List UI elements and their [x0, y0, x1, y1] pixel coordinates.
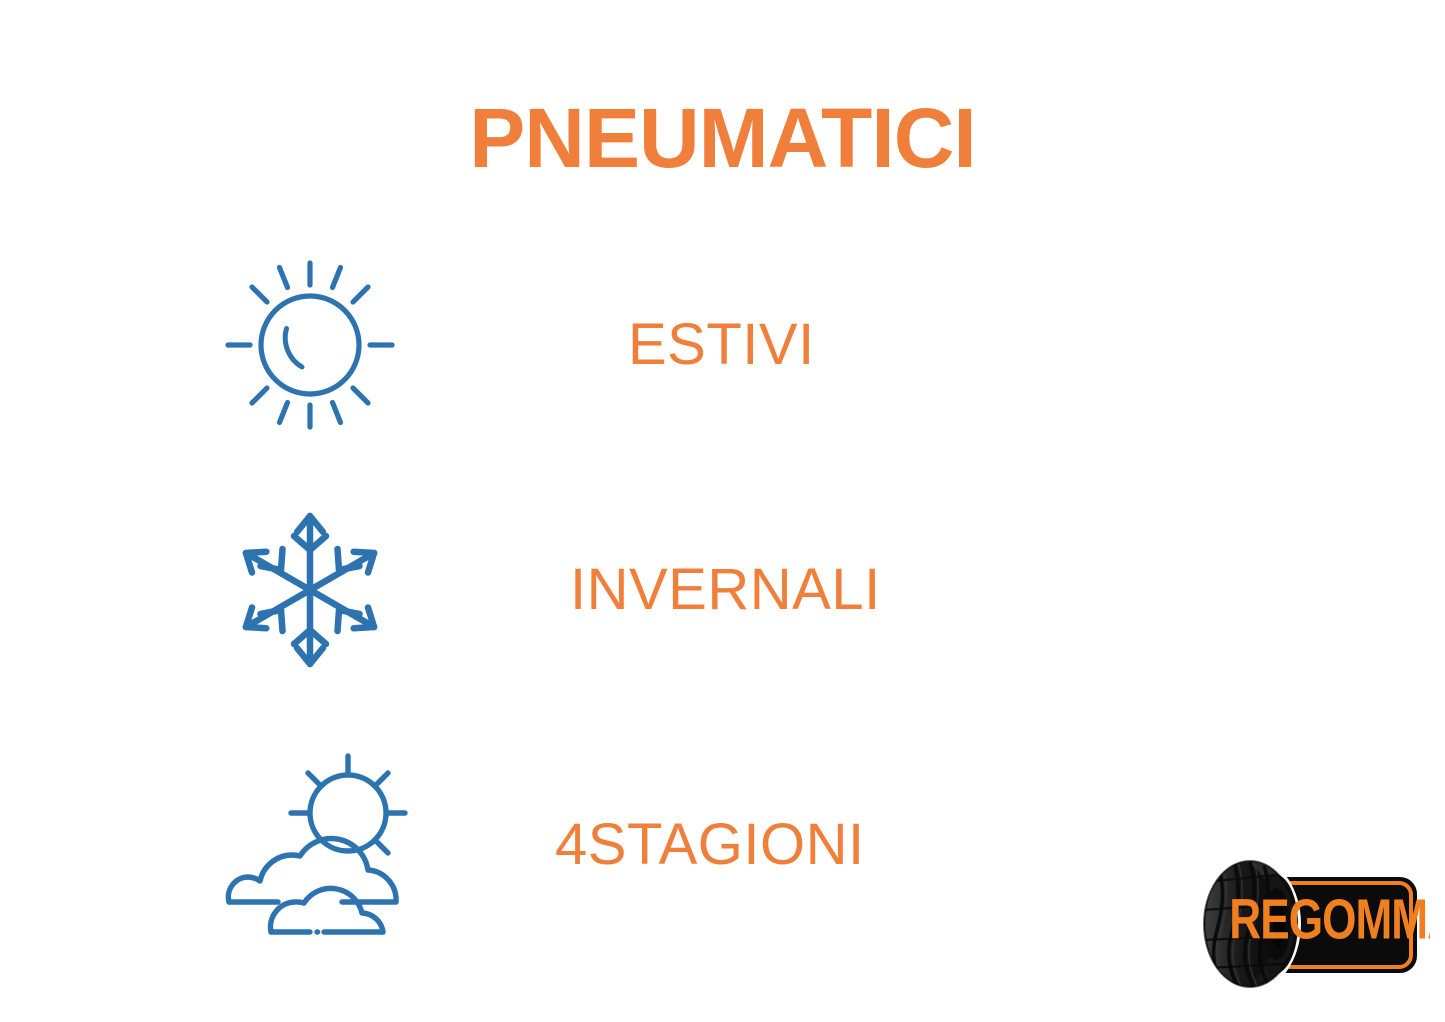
label-cell-estivi: ESTIVI	[460, 316, 1060, 374]
sun-behind-clouds-icon	[160, 745, 460, 945]
sun-icon	[160, 245, 460, 445]
snowflake-icon	[160, 490, 460, 690]
season-label-invernali: INVERNALI	[570, 561, 881, 619]
season-label-estivi: ESTIVI	[628, 316, 815, 374]
label-cell-invernali: INVERNALI	[460, 561, 1060, 619]
page-title: PNEUMATICI	[0, 96, 1445, 180]
logo-wordmark: REGOMMA	[1229, 887, 1430, 950]
season-row-estivi: ESTIVI	[160, 245, 1060, 445]
season-row-invernali: INVERNALI	[160, 490, 1060, 690]
season-row-4stagioni: 4STAGIONI	[160, 745, 1060, 945]
season-label-4stagioni: 4STAGIONI	[555, 816, 865, 874]
label-cell-4stagioni: 4STAGIONI	[460, 816, 1060, 874]
regomma-logo[interactable]: REGOMMA	[1192, 852, 1430, 1000]
poster-canvas: PNEUMATICI	[0, 0, 1445, 1022]
